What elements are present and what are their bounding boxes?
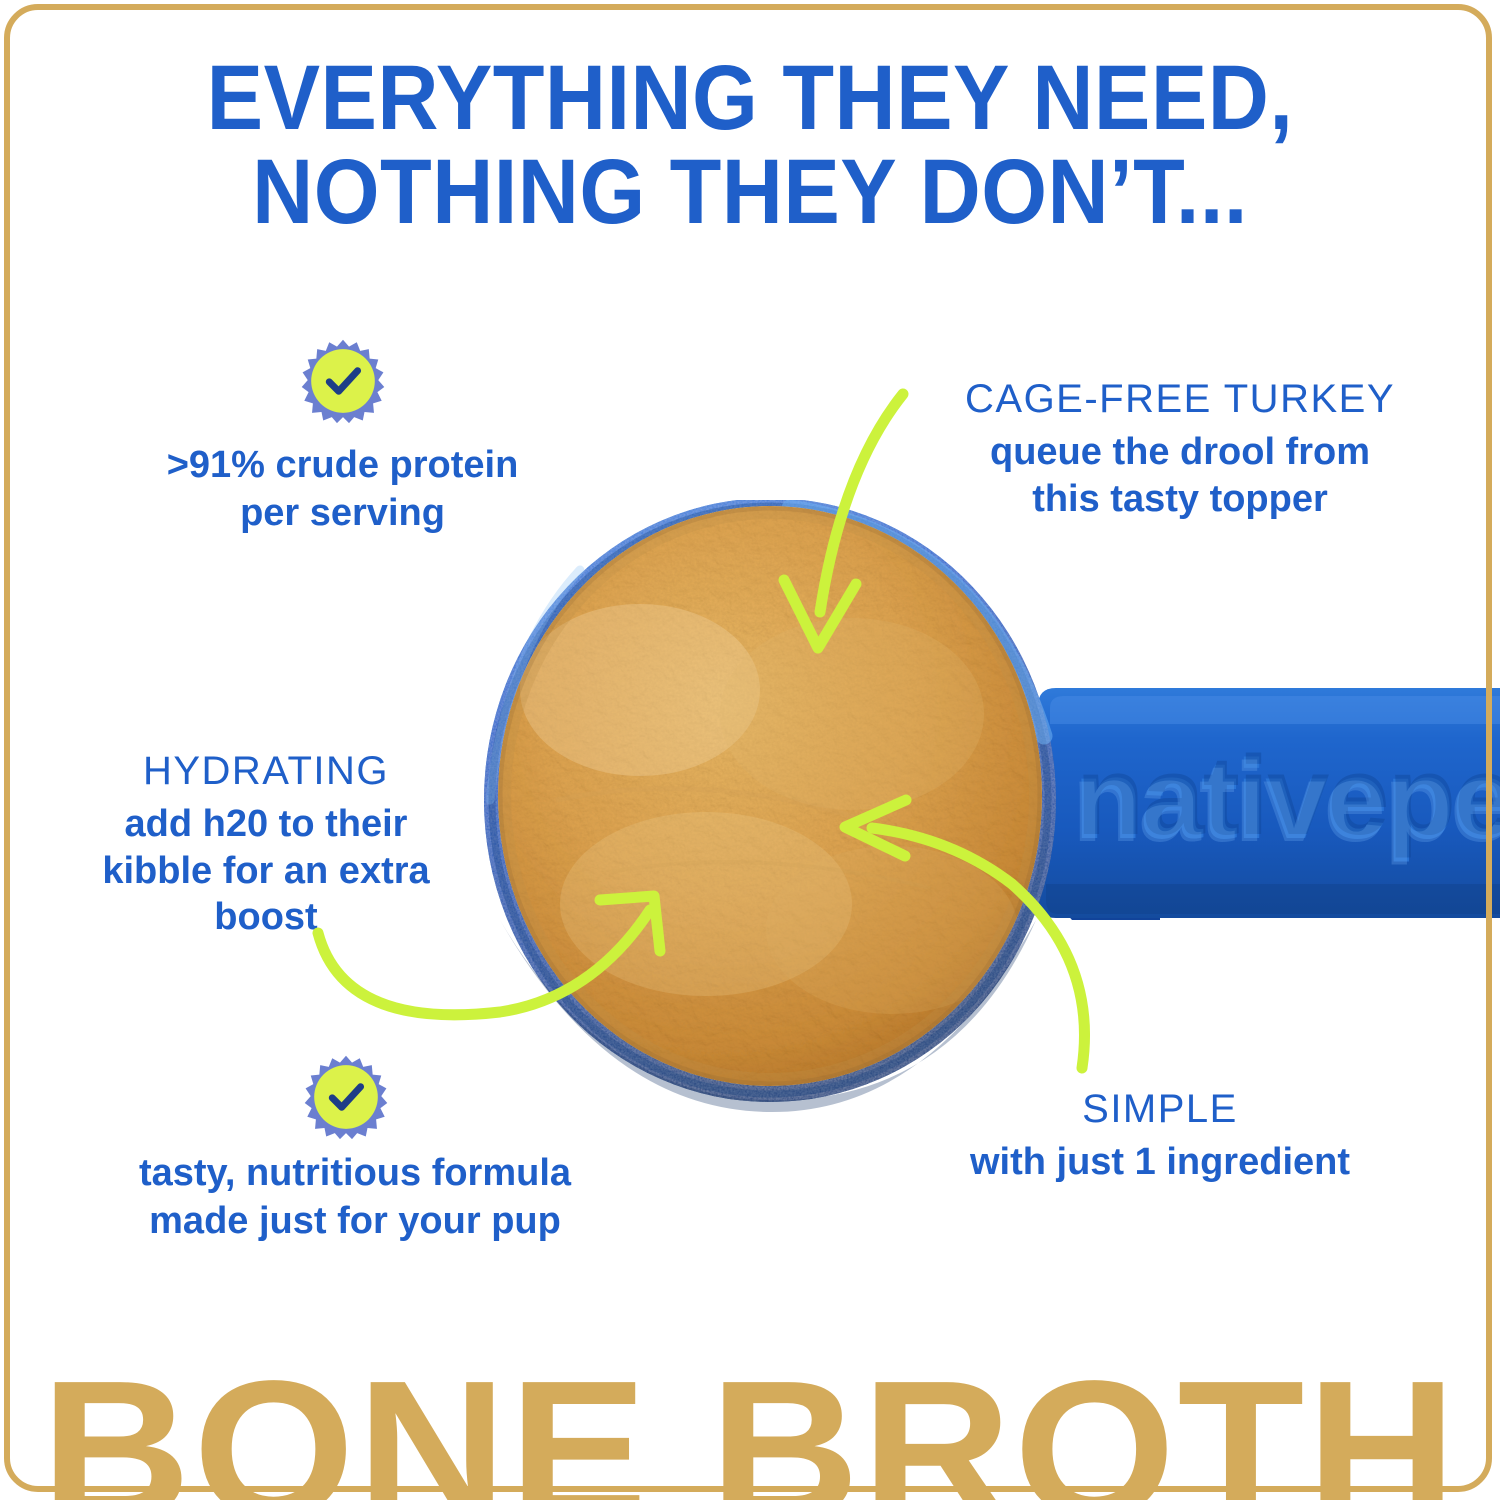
headline-line-2: NOTHING THEY DON’T... [60,146,1440,240]
callout-hydrating: HYDRATING add h20 to their kibble for an… [66,748,466,940]
callout-turkey: CAGE-FREE TURKEY queue the drool from th… [920,376,1440,522]
callout-formula: tasty, nutritious formula made just for … [80,1144,630,1246]
callout-protein: >91% crude protein per serving [110,436,575,538]
callout-turkey-line-1: queue the drool from [990,431,1370,473]
callout-turkey-line-2: this tasty topper [1032,478,1328,520]
callout-protein-line-2: per serving [240,492,445,534]
callout-simple-title: SIMPLE [950,1086,1370,1133]
callout-formula-line-1: tasty, nutritious formula [139,1152,571,1194]
headline-line-1: EVERYTHING THEY NEED, [60,52,1440,146]
callout-hydrating-line-3: boost [214,896,317,938]
callout-hydrating-line-2: kibble for an extra [102,850,429,892]
product-wordmark: BONE BROTH [0,1352,1500,1500]
callout-simple: SIMPLE with just 1 ingredient [950,1086,1370,1186]
badge-fill [314,1065,378,1129]
callout-turkey-title: CAGE-FREE TURKEY [920,376,1440,423]
svg-text:nativepe: nativepe [1072,740,1500,865]
page-title: EVERYTHING THEY NEED, NOTHING THEY DON’T… [0,52,1500,240]
callout-hydrating-title: HYDRATING [66,748,466,795]
callout-simple-line-1: with just 1 ingredient [970,1141,1350,1183]
callout-hydrating-line-1: add h20 to their [125,803,408,845]
product-wordmark-text: BONE BROTH [41,1352,1459,1500]
product-infographic: EVERYTHING THEY NEED, NOTHING THEY DON’T… [0,0,1500,1500]
check-badge-icon-protein [300,338,386,424]
bone-broth-powder [498,506,1042,1086]
callout-formula-line-2: made just for your pup [149,1200,561,1242]
callout-protein-line-1: >91% crude protein [167,444,519,486]
badge-fill [311,349,375,413]
check-badge-icon-formula [303,1054,389,1140]
product-photo-scoop: nativepe nativepe nativepe [460,500,1500,1120]
